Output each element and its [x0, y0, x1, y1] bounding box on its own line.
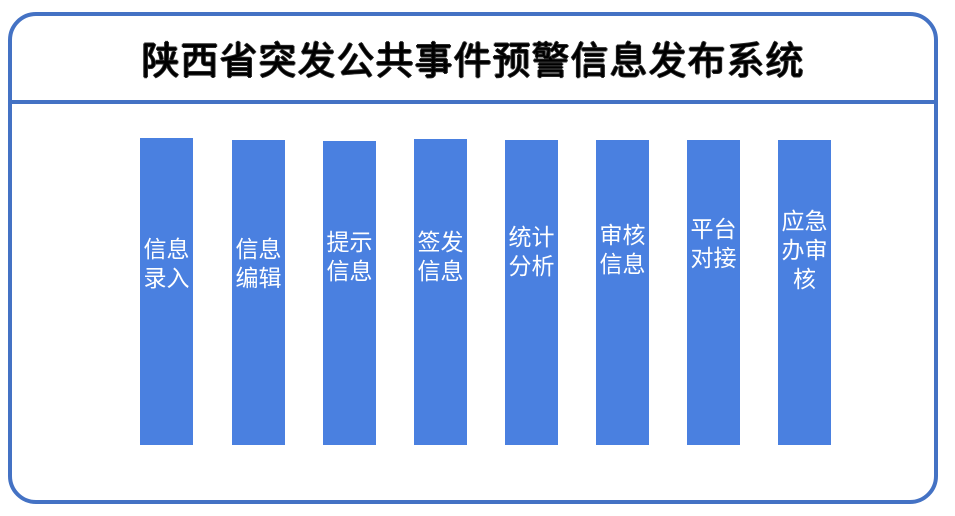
module-bar-group: 信息录入 信息编辑 提示信息 签发信息 统计分析 审核信息 平台对接 应急办审核: [0, 0, 955, 516]
module-bar-信息录入[interactable]: 信息录入: [140, 138, 193, 445]
module-bar-信息编辑[interactable]: 信息编辑: [232, 140, 285, 445]
module-bar-平台对接[interactable]: 平台对接: [687, 140, 740, 445]
module-bar-提示信息[interactable]: 提示信息: [323, 141, 376, 445]
module-bar-label: 提示信息: [323, 229, 376, 287]
module-bar-label: 统计分析: [505, 224, 558, 282]
module-bar-签发信息[interactable]: 签发信息: [414, 139, 467, 445]
module-bar-label: 信息录入: [140, 236, 193, 294]
module-bar-应急办审核[interactable]: 应急办审核: [778, 140, 831, 445]
module-bar-label: 信息编辑: [232, 236, 285, 294]
module-bar-label: 平台对接: [687, 216, 740, 274]
module-bar-label: 签发信息: [414, 229, 467, 287]
module-bar-统计分析[interactable]: 统计分析: [505, 140, 558, 445]
module-bar-label: 应急办审核: [778, 208, 831, 295]
module-bar-label: 审核信息: [596, 222, 649, 280]
diagram-canvas: 陕西省突发公共事件预警信息发布系统 信息录入 信息编辑 提示信息 签发信息 统计…: [0, 0, 955, 516]
module-bar-审核信息[interactable]: 审核信息: [596, 140, 649, 445]
